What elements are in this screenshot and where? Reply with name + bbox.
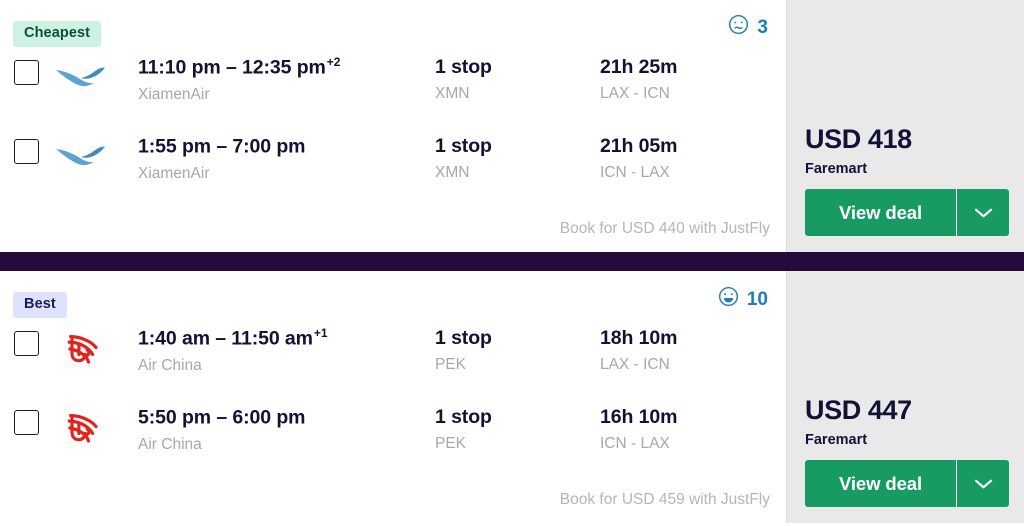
leg-checkbox[interactable] <box>14 331 39 356</box>
leg-checkbox[interactable] <box>14 60 39 85</box>
badge-best: Best <box>13 292 67 318</box>
leg-route: LAX - ICN <box>600 356 780 374</box>
leg-duration-column: 18h 10m LAX - ICN <box>600 327 780 374</box>
leg-airline: XiamenAir <box>138 165 435 183</box>
leg-times-column: 11:10 pm – 12:35 pm+2 XiamenAir <box>138 56 435 104</box>
leg-day-offset: +1 <box>314 326 327 340</box>
flight-results-list: Cheapest 3 <box>0 0 1024 523</box>
leg-route: ICN - LAX <box>600 435 780 453</box>
leg-stops: 1 stop <box>435 327 600 349</box>
score-value: 10 <box>747 290 768 309</box>
leg-duration: 18h 10m <box>600 327 780 349</box>
leg-stop-codes: PEK <box>435 356 600 374</box>
leg-stops: 1 stop <box>435 406 600 428</box>
leg-airline: XiamenAir <box>138 86 435 104</box>
leg-stops: 1 stop <box>435 135 600 157</box>
score-value: 3 <box>757 18 768 37</box>
leg-duration-column: 21h 25m LAX - ICN <box>600 56 780 103</box>
quality-score: 3 <box>727 13 768 41</box>
leg-stop-codes: XMN <box>435 85 600 103</box>
leg-times-column: 5:50 pm – 6:00 pm Air China <box>138 406 435 454</box>
leg-day-offset: +2 <box>327 55 340 69</box>
leg-duration-column: 16h 10m ICN - LAX <box>600 406 780 453</box>
leg-times-column: 1:55 pm – 7:00 pm XiamenAir <box>138 135 435 183</box>
xiamenair-logo <box>50 56 116 90</box>
itinerary-leg[interactable]: 5:50 pm – 6:00 pm Air China 1 stop PEK 1… <box>0 406 786 485</box>
leg-times-group: 11:10 pm – 12:35 pm+2 <box>138 56 435 79</box>
leg-stops-column: 1 stop XMN <box>435 56 600 103</box>
leg-checkbox[interactable] <box>14 139 39 164</box>
leg-route: LAX - ICN <box>600 85 780 103</box>
leg-duration: 16h 10m <box>600 406 780 428</box>
leg-stops: 1 stop <box>435 56 600 78</box>
leg-stops-column: 1 stop XMN <box>435 135 600 182</box>
leg-times-column: 1:40 am – 11:50 am+1 Air China <box>138 327 435 375</box>
leg-duration: 21h 05m <box>600 135 780 157</box>
leg-times: 5:50 pm – 6:00 pm <box>138 407 305 429</box>
leg-stops-column: 1 stop PEK <box>435 406 600 453</box>
view-deal-button[interactable]: View deal <box>805 189 1009 236</box>
leg-times-group: 1:40 am – 11:50 am+1 <box>138 327 435 350</box>
itinerary-leg[interactable]: 11:10 pm – 12:35 pm+2 XiamenAir 1 stop X… <box>0 56 786 135</box>
leg-times-group: 1:55 pm – 7:00 pm <box>138 135 435 158</box>
leg-times-group: 5:50 pm – 6:00 pm <box>138 406 435 429</box>
alternate-booking-offer[interactable]: Book for USD 440 with JustFly <box>0 214 786 252</box>
flight-itinerary-section: Cheapest 3 <box>0 0 786 252</box>
leg-times: 11:10 pm – 12:35 pm <box>138 57 326 79</box>
view-deal-label: View deal <box>805 189 956 236</box>
leg-times: 1:55 pm – 7:00 pm <box>138 136 305 158</box>
flight-result-card[interactable]: Cheapest 3 <box>0 0 1024 252</box>
chevron-down-icon[interactable] <box>956 189 1009 236</box>
view-deal-button[interactable]: View deal <box>805 460 1009 507</box>
quality-score: 10 <box>717 285 768 313</box>
section-divider <box>0 252 1024 271</box>
leg-checkbox[interactable] <box>14 410 39 435</box>
leg-airline: Air China <box>138 357 435 375</box>
alternate-booking-offer[interactable]: Book for USD 459 with JustFly <box>0 485 786 523</box>
view-deal-label: View deal <box>805 460 956 507</box>
flight-itinerary-section: Best 10 <box>0 271 786 523</box>
card-header-row: Cheapest 3 <box>0 0 786 56</box>
happy-face-icon <box>717 285 740 313</box>
price-amount: USD 418 <box>805 126 1008 153</box>
flight-result-card[interactable]: Best 10 <box>0 271 1024 523</box>
leg-route: ICN - LAX <box>600 164 780 182</box>
badge-cheapest: Cheapest <box>13 21 101 47</box>
leg-stop-codes: XMN <box>435 164 600 182</box>
price-amount: USD 447 <box>805 397 1008 424</box>
leg-times: 1:40 am – 11:50 am <box>138 328 313 350</box>
xiamenair-logo <box>50 135 116 169</box>
airchina-logo <box>50 406 116 450</box>
leg-airline: Air China <box>138 436 435 454</box>
card-header-row: Best 10 <box>0 271 786 327</box>
leg-stop-codes: PEK <box>435 435 600 453</box>
price-provider: Faremart <box>805 433 1008 448</box>
leg-duration: 21h 25m <box>600 56 780 78</box>
airchina-logo <box>50 327 116 371</box>
itinerary-leg[interactable]: 1:40 am – 11:50 am+1 Air China 1 stop PE… <box>0 327 786 406</box>
price-provider: Faremart <box>805 162 1008 177</box>
leg-stops-column: 1 stop PEK <box>435 327 600 374</box>
price-panel: USD 418 Faremart View deal <box>786 0 1024 252</box>
neutral-face-icon <box>727 13 750 41</box>
chevron-down-icon[interactable] <box>956 460 1009 507</box>
leg-duration-column: 21h 05m ICN - LAX <box>600 135 780 182</box>
price-panel: USD 447 Faremart View deal <box>786 271 1024 523</box>
itinerary-leg[interactable]: 1:55 pm – 7:00 pm XiamenAir 1 stop XMN 2… <box>0 135 786 214</box>
